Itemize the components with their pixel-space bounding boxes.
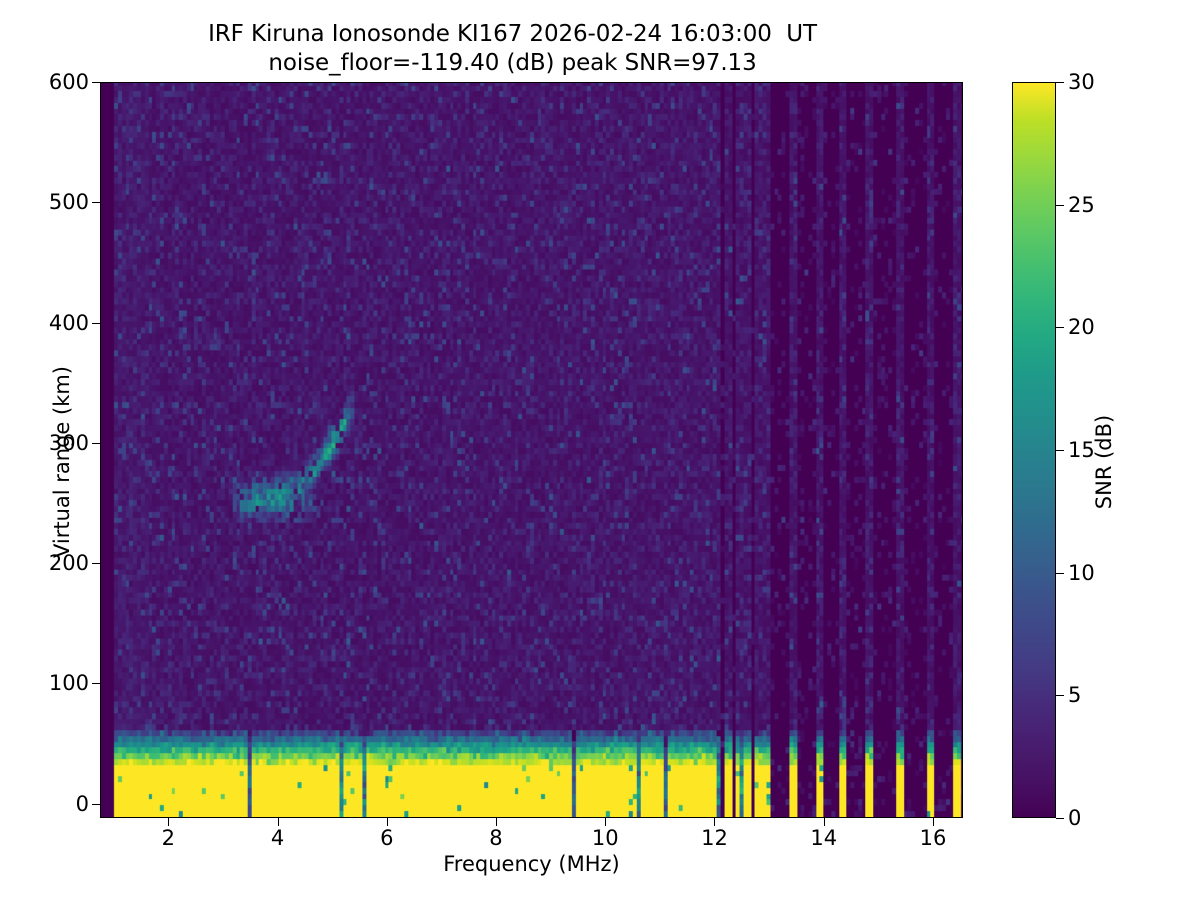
title-line-1: IRF Kiruna Ionosonde KI167 2026-02-24 16… (0, 20, 1025, 49)
colorbar-tick-mark (1056, 450, 1064, 451)
colorbar-tick-mark (1056, 82, 1064, 83)
x-tick-label: 16 (920, 826, 947, 850)
colorbar-tick-mark (1056, 695, 1064, 696)
x-tick-mark (714, 818, 715, 826)
colorbar-tick-label: 15 (1068, 438, 1095, 462)
y-tick-label: 300 (49, 431, 89, 455)
y-tick-mark (92, 323, 100, 324)
ionogram-figure: IRF Kiruna Ionosonde KI167 2026-02-24 16… (0, 0, 1200, 900)
y-tick-mark (92, 683, 100, 684)
x-tick-mark (933, 818, 934, 826)
x-tick-label: 4 (271, 826, 284, 850)
x-tick-mark (387, 818, 388, 826)
colorbar (1012, 82, 1056, 818)
colorbar-tick-mark (1056, 327, 1064, 328)
ionogram-heatmap (101, 83, 962, 817)
x-tick-label: 14 (810, 826, 837, 850)
y-tick-label: 100 (49, 671, 89, 695)
colorbar-tick-label: 25 (1068, 193, 1095, 217)
x-axis-label: Frequency (MHz) (100, 852, 963, 876)
x-tick-mark (496, 818, 497, 826)
y-tick-mark (92, 202, 100, 203)
x-tick-label: 6 (380, 826, 393, 850)
x-tick-label: 2 (162, 826, 175, 850)
y-tick-label: 500 (49, 190, 89, 214)
y-tick-label: 400 (49, 311, 89, 335)
y-tick-label: 600 (49, 70, 89, 94)
y-tick-label: 0 (76, 792, 89, 816)
x-tick-mark (824, 818, 825, 826)
colorbar-tick-mark (1056, 818, 1064, 819)
title-line-2: noise_floor=-119.40 (dB) peak SNR=97.13 (0, 49, 1025, 78)
colorbar-tick-label: 10 (1068, 561, 1095, 585)
x-tick-mark (278, 818, 279, 826)
x-tick-label: 10 (592, 826, 619, 850)
colorbar-tick-label: 20 (1068, 315, 1095, 339)
x-tick-mark (605, 818, 606, 826)
y-tick-mark (92, 804, 100, 805)
y-tick-mark (92, 443, 100, 444)
y-tick-mark (92, 563, 100, 564)
colorbar-tick-label: 5 (1068, 683, 1081, 707)
colorbar-tick-mark (1056, 205, 1064, 206)
plot-area (100, 82, 963, 818)
colorbar-tick-mark (1056, 573, 1064, 574)
y-tick-mark (92, 82, 100, 83)
colorbar-tick-label: 30 (1068, 70, 1095, 94)
page-title: IRF Kiruna Ionosonde KI167 2026-02-24 16… (0, 20, 1025, 79)
colorbar-label: SNR (dB) (1092, 94, 1116, 830)
x-tick-mark (168, 818, 169, 826)
y-tick-label: 200 (49, 551, 89, 575)
x-tick-label: 12 (701, 826, 728, 850)
colorbar-tick-label: 0 (1068, 806, 1081, 830)
x-tick-label: 8 (489, 826, 502, 850)
